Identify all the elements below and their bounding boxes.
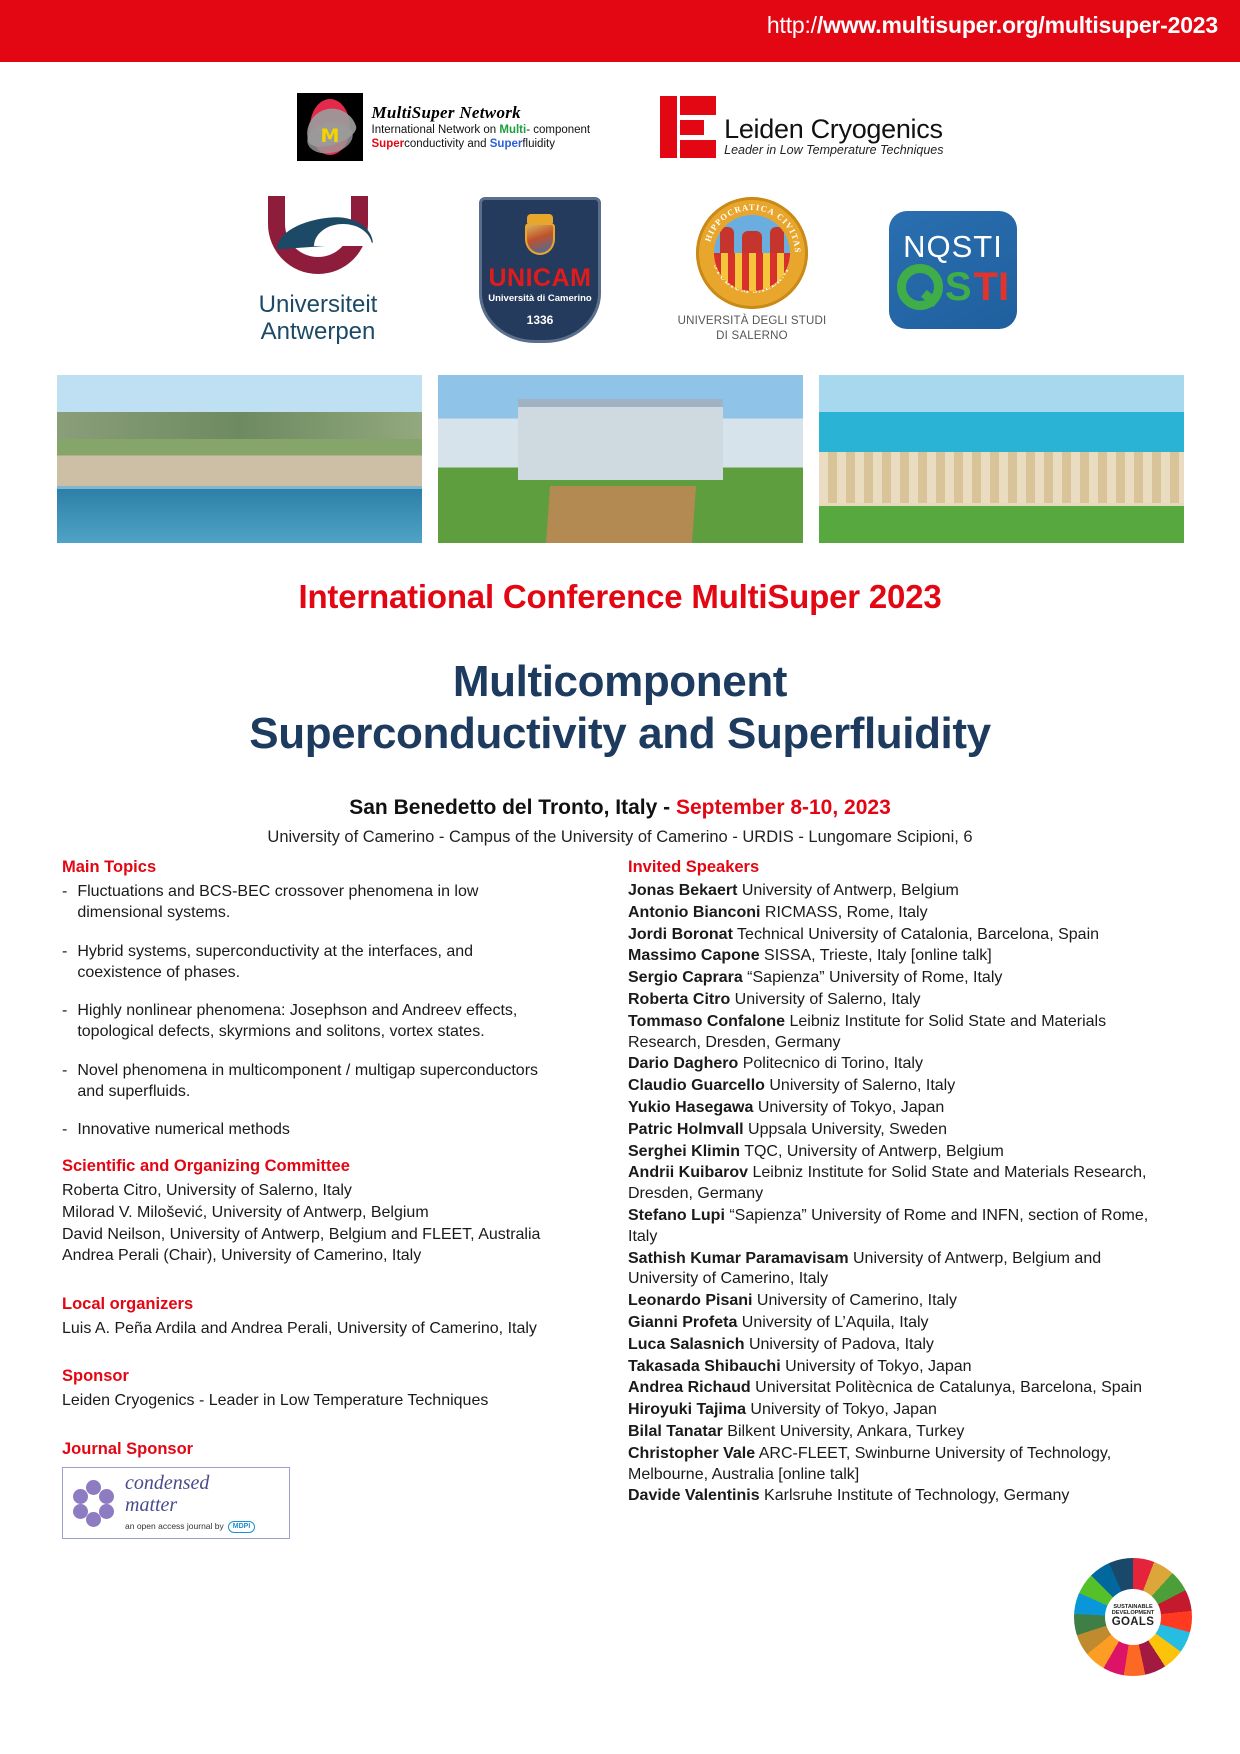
speaker-affiliation: Bilkent University, Ankara, Turkey	[723, 1423, 965, 1440]
photo-strip	[57, 375, 1185, 543]
unicam-shield-icon: UNICAM Università di Camerino 1336	[479, 197, 601, 343]
speaker-entry: Davide Valentinis Karlsruhe Institute of…	[628, 1486, 1173, 1507]
speaker-entry: Leonardo Pisani University of Camerino, …	[628, 1291, 1173, 1312]
committee-member: Roberta Citro, University of Salerno, It…	[62, 1180, 552, 1202]
speaker-name: Sergio Caprara	[628, 969, 743, 986]
title-block: International Conference MultiSuper 2023…	[0, 578, 1240, 847]
sdg-goals-wheel-logo: SUSTAINABLE DEVELOPMENT GOALS	[1074, 1558, 1192, 1676]
speaker-entry: Andrii Kuibarov Leibniz Institute for So…	[628, 1163, 1173, 1205]
nqsti-s-letter: S	[945, 269, 972, 305]
topic-text: Hybrid systems, superconductivity at the…	[77, 941, 552, 984]
local-organizers-heading: Local organizers	[62, 1295, 552, 1314]
condensed-matter-name-line1: condensed	[125, 1473, 255, 1495]
speaker-entry: Takasada Shibauchi University of Tokyo, …	[628, 1357, 1173, 1378]
speaker-entry: Gianni Profeta University of L’Aquila, I…	[628, 1313, 1173, 1334]
multisuper-logo-title: MultiSuper Network	[372, 103, 591, 124]
speaker-name: Bilal Tanatar	[628, 1423, 723, 1440]
speaker-name: Jordi Boronat	[628, 926, 733, 943]
salerno-caption-line1: UNIVERSITÀ DEGLI STUDI	[667, 314, 837, 328]
condensed-matter-subtitle: an open access journal byMDPI	[125, 1521, 255, 1533]
photo-campus	[438, 375, 803, 543]
sponsor-text: Leiden Cryogenics - Leader in Low Temper…	[62, 1390, 552, 1412]
speaker-name: Massimo Capone	[628, 947, 760, 964]
speaker-name: Hiroyuki Tajima	[628, 1401, 746, 1418]
main-topics-heading: Main Topics	[62, 858, 552, 877]
speaker-entry: Sergio Caprara “Sapienza” University of …	[628, 968, 1173, 989]
committee-member: Milorad V. Milošević, University of Antw…	[62, 1202, 552, 1224]
speaker-affiliation: University of Antwerp, Belgium	[737, 882, 958, 899]
main-topics-list: -Fluctuations and BCS-BEC crossover phen…	[62, 881, 552, 1140]
topic-text: Highly nonlinear phenomena: Josephson an…	[77, 1000, 552, 1043]
speaker-name: Antonio Bianconi	[628, 904, 760, 921]
speaker-name: Luca Salasnich	[628, 1336, 745, 1353]
speaker-entry: Claudio Guarcello University of Salerno,…	[628, 1076, 1173, 1097]
unicam-logo: UNICAM Università di Camerino 1336	[465, 197, 615, 343]
speaker-affiliation: Politecnico di Torino, Italy	[738, 1055, 923, 1072]
topic-item: -Highly nonlinear phenomena: Josephson a…	[62, 1000, 552, 1043]
speaker-entry: Roberta Citro University of Salerno, Ita…	[628, 990, 1173, 1011]
speaker-affiliation: University of Tokyo, Japan	[746, 1401, 937, 1418]
speaker-name: Takasada Shibauchi	[628, 1358, 781, 1375]
conference-url[interactable]: http://www.multisuper.org/multisuper-202…	[767, 12, 1218, 39]
salerno-caption-line2: DI SALERNO	[667, 329, 837, 343]
speaker-name: Stefano Lupi	[628, 1207, 725, 1224]
invited-speakers-list: Jonas Bekaert University of Antwerp, Bel…	[628, 881, 1173, 1507]
speaker-name: Davide Valentinis	[628, 1487, 760, 1504]
main-title-line1: Multicomponent	[0, 656, 1240, 708]
speaker-name: Christopher Vale	[628, 1445, 755, 1462]
unicam-year: 1336	[527, 313, 554, 327]
speaker-name: Sathish Kumar Paramavisam	[628, 1250, 849, 1267]
venue-and-date: San Benedetto del Tronto, Italy - Septem…	[0, 796, 1240, 820]
speaker-affiliation: Universitat Politècnica de Catalunya, Ba…	[751, 1379, 1142, 1396]
antwerpen-label-line2: Antwerpen	[223, 319, 413, 346]
topic-item: -Fluctuations and BCS-BEC crossover phen…	[62, 881, 552, 924]
speaker-affiliation: RICMASS, Rome, Italy	[760, 904, 927, 921]
speaker-name: Patric Holmvall	[628, 1121, 744, 1138]
speaker-entry: Jonas Bekaert University of Antwerp, Bel…	[628, 881, 1173, 902]
salerno-seal-icon: HIPPOCRATICA CIVITAS STUDIUM SALERNI	[696, 197, 808, 309]
url-host-path: /www.multisuper.org/multisuper-2023	[817, 12, 1218, 38]
leiden-logo-tagline: Leader in Low Temperature Techniques	[724, 144, 943, 158]
conference-title: International Conference MultiSuper 2023	[0, 578, 1240, 616]
nqsti-wordmark: NQSTI	[903, 231, 1003, 262]
leiden-logo-name: Leiden Cryogenics	[724, 115, 943, 145]
right-column: Invited Speakers Jonas Bekaert Universit…	[628, 858, 1173, 1508]
condensed-matter-journal-logo: condensed matter an open access journal …	[62, 1467, 290, 1539]
photo-beach	[819, 375, 1184, 543]
speaker-entry: Dario Daghero Politecnico di Torino, Ita…	[628, 1054, 1173, 1075]
topic-dash: -	[62, 941, 67, 984]
speaker-name: Leonardo Pisani	[628, 1292, 752, 1309]
sponsor-logo-row-primary: M MultiSuper Network International Netwo…	[0, 88, 1240, 166]
unicam-subtitle: Università di Camerino	[488, 293, 591, 304]
speaker-name: Andrii Kuibarov	[628, 1164, 748, 1181]
speaker-affiliation: Technical University of Catalonia, Barce…	[733, 926, 1099, 943]
university-salerno-logo: HIPPOCRATICA CIVITAS STUDIUM SALERNI UNI…	[667, 197, 837, 343]
speaker-entry: Stefano Lupi “Sapienza” University of Ro…	[628, 1206, 1173, 1248]
speaker-affiliation: University of Camerino, Italy	[752, 1292, 957, 1309]
multisuper-network-logo: M MultiSuper Network International Netwo…	[297, 93, 591, 161]
committee-list: Roberta Citro, University of Salerno, It…	[62, 1180, 552, 1266]
speaker-entry: Hiroyuki Tajima University of Tokyo, Jap…	[628, 1400, 1173, 1421]
multisuper-m-letter: M	[321, 125, 340, 147]
url-scheme: http:/	[767, 12, 817, 38]
speaker-affiliation: University of Padova, Italy	[745, 1336, 934, 1353]
speaker-entry: Bilal Tanatar Bilkent University, Ankara…	[628, 1422, 1173, 1443]
speaker-affiliation: University of L’Aquila, Italy	[737, 1314, 928, 1331]
topic-dash: -	[62, 1119, 67, 1140]
local-organizers-text: Luis A. Peña Ardila and Andrea Perali, U…	[62, 1318, 552, 1340]
main-title-line2: Superconductivity and Superfluidity	[0, 708, 1240, 760]
speaker-name: Gianni Profeta	[628, 1314, 737, 1331]
mdpi-badge: MDPI	[228, 1521, 256, 1533]
speaker-affiliation: University of Salerno, Italy	[765, 1077, 955, 1094]
nqsti-q-icon	[897, 264, 943, 310]
invited-speakers-heading: Invited Speakers	[628, 858, 1173, 877]
condensed-matter-molecule-icon	[71, 1480, 117, 1526]
leiden-cryogenics-logo: Leiden Cryogenics Leader in Low Temperat…	[660, 96, 943, 158]
multisuper-logo-line1: International Network on Multi- componen…	[372, 123, 591, 137]
poster-page: http://www.multisuper.org/multisuper-202…	[0, 0, 1240, 1754]
speaker-name: Roberta Citro	[628, 991, 730, 1008]
main-title: Multicomponent Superconductivity and Sup…	[0, 656, 1240, 760]
multisuper-mark-icon: M	[297, 93, 363, 161]
speaker-entry: Tommaso Confalone Leibniz Institute for …	[628, 1012, 1173, 1054]
header-bar: http://www.multisuper.org/multisuper-202…	[0, 0, 1240, 62]
speaker-entry: Antonio Bianconi RICMASS, Rome, Italy	[628, 903, 1173, 924]
journal-sponsor-heading: Journal Sponsor	[62, 1440, 552, 1459]
sdg-line3: GOALS	[1112, 1617, 1154, 1629]
photo-seafront	[57, 375, 422, 543]
topic-item: -Novel phenomena in multicomponent / mul…	[62, 1060, 552, 1103]
sponsor-heading: Sponsor	[62, 1367, 552, 1386]
speaker-affiliation: Karlsruhe Institute of Technology, Germa…	[760, 1487, 1070, 1504]
speaker-entry: Sathish Kumar Paramavisam University of …	[628, 1249, 1173, 1291]
speaker-entry: Luca Salasnich University of Padova, Ita…	[628, 1335, 1173, 1356]
topic-item: -Hybrid systems, superconductivity at th…	[62, 941, 552, 984]
speaker-entry: Yukio Hasegawa University of Tokyo, Japa…	[628, 1098, 1173, 1119]
speaker-affiliation: “Sapienza” University of Rome, Italy	[743, 969, 1003, 986]
topic-dash: -	[62, 1060, 67, 1103]
speaker-entry: Christopher Vale ARC-FLEET, Swinburne Un…	[628, 1444, 1173, 1486]
committee-member: Andrea Perali (Chair), University of Cam…	[62, 1245, 552, 1267]
speaker-name: Jonas Bekaert	[628, 882, 737, 899]
speaker-name: Dario Daghero	[628, 1055, 738, 1072]
speaker-affiliation: University of Tokyo, Japan	[781, 1358, 972, 1375]
speaker-affiliation: University of Tokyo, Japan	[753, 1099, 944, 1116]
university-logo-row: Universiteit Antwerpen UNICAM Università…	[0, 190, 1240, 350]
topic-item: -Innovative numerical methods	[62, 1119, 552, 1140]
multisuper-logo-line2: Superconductivity and Superfluidity	[372, 137, 591, 151]
topic-text: Innovative numerical methods	[77, 1119, 552, 1140]
speaker-affiliation: University of Salerno, Italy	[730, 991, 920, 1008]
speaker-entry: Patric Holmvall Uppsala University, Swed…	[628, 1120, 1173, 1141]
speaker-name: Andrea Richaud	[628, 1379, 751, 1396]
university-antwerpen-logo: Universiteit Antwerpen	[223, 194, 413, 346]
speaker-name: Tommaso Confalone	[628, 1013, 785, 1030]
condensed-matter-name-line2: matter	[125, 1495, 255, 1517]
topic-dash: -	[62, 1000, 67, 1043]
speaker-entry: Massimo Capone SISSA, Trieste, Italy [on…	[628, 946, 1173, 967]
leiden-lc-mark-icon	[660, 96, 716, 158]
speaker-affiliation: TQC, University of Antwerp, Belgium	[740, 1143, 1004, 1160]
speaker-affiliation: SISSA, Trieste, Italy [online talk]	[760, 947, 992, 964]
nqsti-ti-letters: TI	[974, 269, 1010, 305]
antwerpen-label-line1: Universiteit	[223, 292, 413, 319]
topic-text: Fluctuations and BCS-BEC crossover pheno…	[77, 881, 552, 924]
unicam-word: UNICAM	[489, 264, 592, 293]
speaker-affiliation: Uppsala University, Sweden	[744, 1121, 947, 1138]
speaker-entry: Jordi Boronat Technical University of Ca…	[628, 925, 1173, 946]
committee-member: David Neilson, University of Antwerp, Be…	[62, 1224, 552, 1246]
conference-date: September 8-10, 2023	[676, 796, 891, 819]
antwerpen-u-icon	[254, 194, 382, 286]
venue-text: San Benedetto del Tronto, Italy -	[349, 796, 676, 819]
topic-text: Novel phenomena in multicomponent / mult…	[77, 1060, 552, 1103]
left-column: Main Topics -Fluctuations and BCS-BEC cr…	[62, 858, 552, 1539]
speaker-name: Serghei Klimin	[628, 1143, 740, 1160]
committee-heading: Scientific and Organizing Committee	[62, 1157, 552, 1176]
speaker-entry: Serghei Klimin TQC, University of Antwer…	[628, 1142, 1173, 1163]
nqsti-logo: NQSTI S TI	[889, 211, 1017, 329]
topic-dash: -	[62, 881, 67, 924]
speaker-entry: Andrea Richaud Universitat Politècnica d…	[628, 1378, 1173, 1399]
venue-address: University of Camerino - Campus of the U…	[0, 828, 1240, 847]
speaker-name: Claudio Guarcello	[628, 1077, 765, 1094]
speaker-name: Yukio Hasegawa	[628, 1099, 753, 1116]
